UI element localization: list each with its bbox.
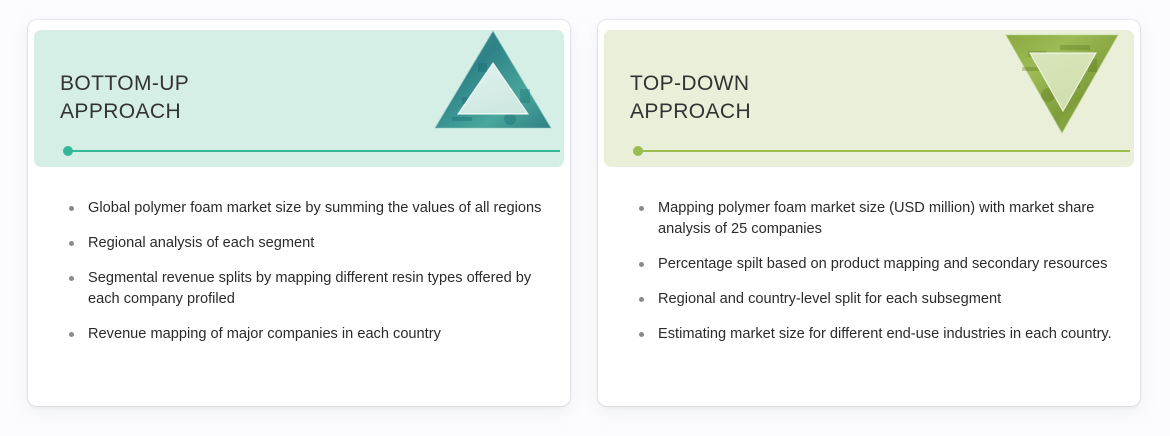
list-item: Segmental revenue splits by mapping diff… — [56, 268, 556, 310]
list-item-text: Regional and country-level split for eac… — [658, 291, 1001, 307]
top-down-bullet-list: Mapping polymer foam market size (USD mi… — [626, 198, 1126, 359]
list-item-text: Segmental revenue splits by mapping diff… — [88, 270, 531, 307]
list-item: Estimating market size for different end… — [626, 324, 1126, 345]
accent-line — [638, 150, 1130, 152]
bullet-dot-icon — [69, 241, 74, 246]
list-item-text: Revenue mapping of major companies in ea… — [88, 326, 441, 342]
top-down-approach-card: TOP-DOWN APPROACH Mapping polymer foam m… — [598, 20, 1140, 406]
top-down-title: TOP-DOWN APPROACH — [630, 70, 751, 126]
accent-dot — [633, 146, 643, 156]
list-item: Regional and country-level split for eac… — [626, 289, 1126, 310]
list-item: Mapping polymer foam market size (USD mi… — [626, 198, 1126, 240]
list-item-text: Mapping polymer foam market size (USD mi… — [658, 200, 1094, 237]
accent-dot — [63, 146, 73, 156]
list-item-text: Global polymer foam market size by summi… — [88, 200, 541, 216]
list-item-text: Regional analysis of each segment — [88, 235, 314, 251]
list-item: Revenue mapping of major companies in ea… — [56, 324, 556, 345]
approach-comparison-graphic: BOTTOM-UP APPROACH Global polymer foam m… — [0, 0, 1170, 436]
bullet-dot-icon — [69, 206, 74, 211]
bottom-up-approach-card: BOTTOM-UP APPROACH Global polymer foam m… — [28, 20, 570, 406]
bottom-up-header-band: BOTTOM-UP APPROACH — [34, 30, 564, 167]
top-down-header-band: TOP-DOWN APPROACH — [604, 30, 1134, 167]
triangle-up-icon — [434, 30, 564, 141]
bullet-dot-icon — [69, 276, 74, 281]
bullet-dot-icon — [639, 262, 644, 267]
bottom-up-bullet-list: Global polymer foam market size by summi… — [56, 198, 556, 359]
bullet-dot-icon — [639, 332, 644, 337]
list-item: Global polymer foam market size by summi… — [56, 198, 556, 219]
bullet-dot-icon — [69, 332, 74, 337]
bottom-up-title: BOTTOM-UP APPROACH — [60, 70, 189, 126]
triangle-down-icon — [1004, 30, 1134, 141]
bullet-dot-icon — [639, 206, 644, 211]
list-item: Percentage spilt based on product mappin… — [626, 254, 1126, 275]
list-item-text: Percentage spilt based on product mappin… — [658, 256, 1107, 272]
bullet-dot-icon — [639, 297, 644, 302]
list-item: Regional analysis of each segment — [56, 233, 556, 254]
list-item-text: Estimating market size for different end… — [658, 326, 1112, 342]
accent-line — [68, 150, 560, 152]
